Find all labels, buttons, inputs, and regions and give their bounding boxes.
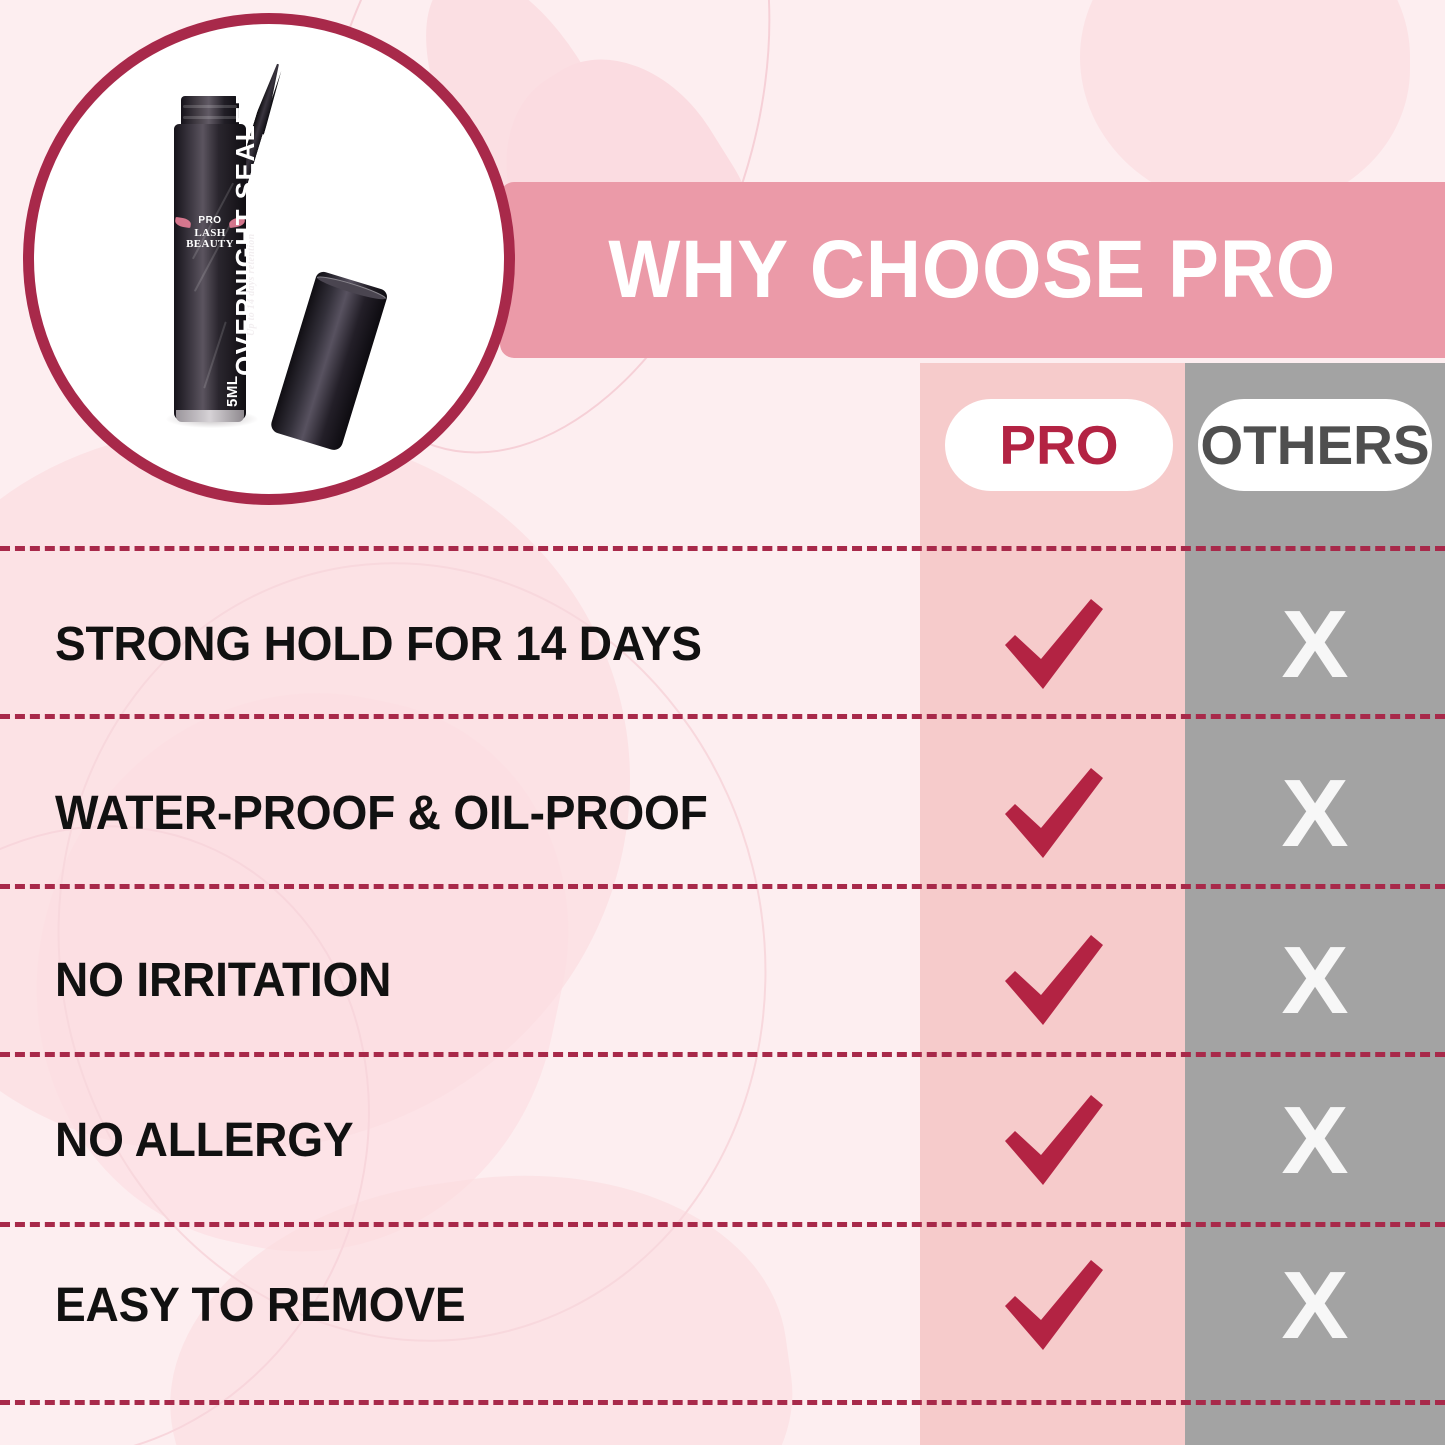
cross-icon: X [1179,1091,1445,1191]
check-icon [920,764,1185,864]
feature-label: STRONG HOLD FOR 14 DAYS [55,617,702,672]
cross-icon: X [1179,764,1445,864]
row-divider [0,546,1445,551]
product-volume-text: 5ML [224,376,241,408]
product-tagline-text: Up to 14 days retention [246,234,257,336]
check-icon [920,931,1185,1031]
column-header-pro: PRO [945,399,1173,491]
row-divider [0,1222,1445,1227]
row-divider [0,884,1445,889]
cross-icon: X [1179,931,1445,1031]
column-header-pro-label: PRO [999,418,1118,473]
infographic-page: WHY CHOOSE PRO PRO LASH BEAUTY OVERNIGHT… [0,0,1445,1445]
cross-icon: X [1179,595,1445,695]
check-icon [920,1091,1185,1191]
title-banner: WHY CHOOSE PRO [500,182,1445,358]
cross-icon: X [1179,1256,1445,1356]
page-title: WHY CHOOSE PRO [609,223,1337,317]
decorative-blob [1080,0,1410,210]
check-icon [920,595,1185,695]
bottle-cap [269,270,389,452]
bottle-base [176,410,244,422]
check-icon [920,1256,1185,1356]
column-header-others: OTHERS [1198,399,1432,491]
row-divider [0,714,1445,719]
feature-label: WATER-PROOF & OIL-PROOF [55,786,708,841]
feature-label: NO IRRITATION [55,953,391,1008]
row-divider [0,1400,1445,1405]
column-header-others-label: OTHERS [1200,418,1429,473]
product-bottle: PRO LASH BEAUTY OVERNIGHT SEALER Up to 1… [34,24,504,494]
product-image-circle: PRO LASH BEAUTY OVERNIGHT SEALER Up to 1… [23,13,515,505]
feature-label: NO ALLERGY [55,1113,353,1168]
feature-label: EASY TO REMOVE [55,1278,465,1333]
row-divider [0,1052,1445,1057]
